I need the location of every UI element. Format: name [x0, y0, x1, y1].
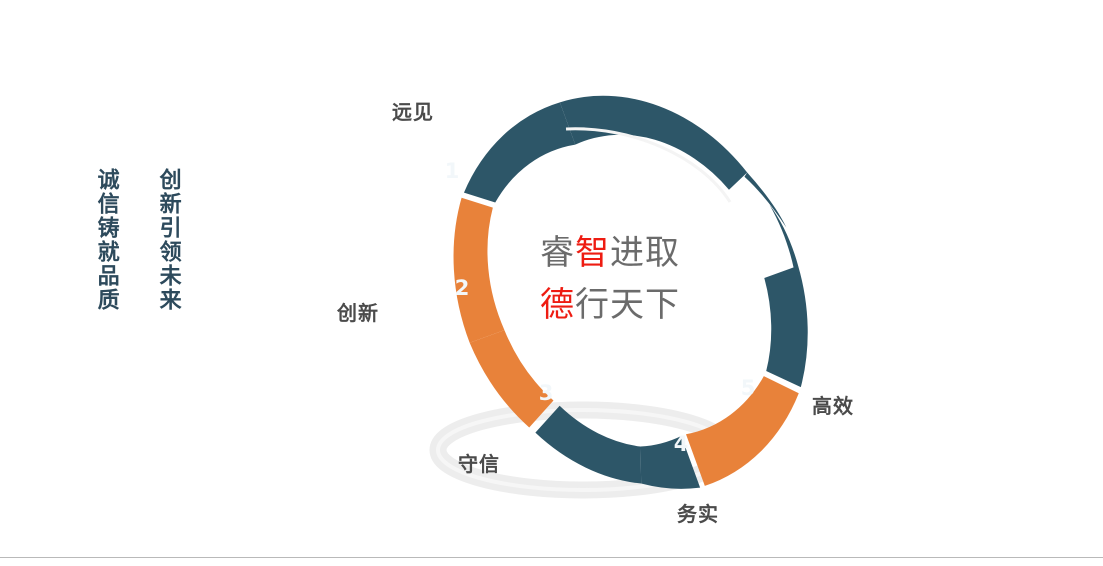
segment-number-4: 4 [666, 432, 696, 456]
segment-number-3: 3 [531, 381, 561, 405]
center-line2-post: 行天下 [575, 285, 680, 325]
slide-canvas: 诚信铸就品质 创新引领未来 [0, 0, 1103, 566]
segment-number-5: 5 [733, 376, 763, 400]
vertical-slogan-right: 创新引领未来 [150, 168, 186, 312]
center-slogan: 睿智进取 德行天下 [540, 228, 760, 331]
segment-label-2: 创新 [337, 297, 379, 326]
center-line1-pre: 睿 [540, 233, 575, 273]
center-line1-post: 进取 [610, 233, 680, 273]
center-line1-highlight: 智 [575, 233, 610, 273]
segment-number-1: 1 [437, 159, 467, 183]
bottom-divider [0, 557, 1103, 558]
segment-number-2: 2 [447, 276, 477, 300]
segment-label-1: 远见 [392, 96, 434, 125]
vertical-slogan-left: 诚信铸就品质 [88, 168, 124, 312]
segment-label-4: 务实 [677, 498, 719, 527]
center-slogan-line-1: 睿智进取 [540, 228, 760, 280]
center-line2-highlight: 德 [540, 285, 575, 325]
segment-label-5: 高效 [812, 390, 854, 419]
segment-label-3: 守信 [458, 448, 500, 477]
center-slogan-line-2: 德行天下 [540, 280, 760, 332]
